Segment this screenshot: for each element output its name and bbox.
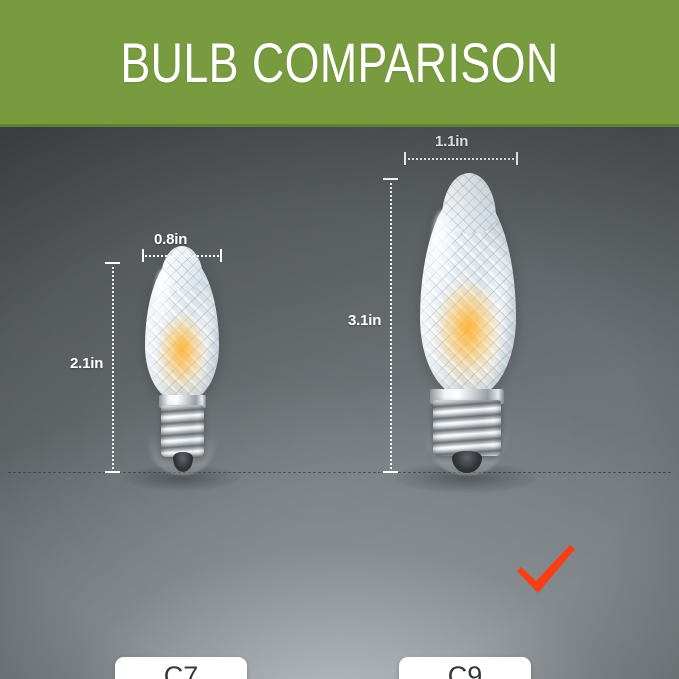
c9-base-tip (452, 451, 482, 473)
red-check-icon (512, 541, 580, 599)
c9-height-dimension-line (390, 178, 392, 473)
comparison-stage: 0.8in 2.1in 1.1in (0, 127, 679, 679)
c9-width-dimension-line (404, 158, 518, 160)
header-banner: BULB COMPARISON (0, 0, 679, 127)
c9-width-cap-right (516, 152, 518, 165)
c9-width-label: 1.1in (435, 133, 468, 150)
c7-glass-tip (161, 246, 203, 290)
c9-screw-base (433, 400, 501, 456)
c9-glass-tip (442, 173, 496, 233)
chip-c7: C7 (115, 657, 247, 679)
c7-screw-base (161, 405, 204, 457)
c7-width-label: 0.8in (154, 231, 187, 248)
c7-height-label: 2.1in (70, 355, 103, 372)
page-title: BULB COMPARISON (68, 0, 611, 124)
c7-base-tip (173, 452, 193, 472)
c9-height-cap-bottom (383, 471, 398, 473)
label-block-c9: C9 E17 BASE (355, 657, 575, 679)
c9-height-cap-top (383, 178, 398, 180)
c9-width-cap-left (404, 152, 406, 165)
c7-width-cap-left (142, 249, 144, 262)
label-block-c7: C7 E12 BASE (71, 657, 291, 679)
c7-height-cap-bottom (105, 471, 120, 473)
chip-c9: C9 (399, 657, 531, 679)
bulb-comparison-infographic: BULB COMPARISON 0.8in (0, 0, 679, 679)
c7-width-dimension-line (142, 255, 222, 257)
c7-height-dimension-line (112, 262, 114, 473)
c7-height-cap-top (105, 262, 120, 264)
c7-width-cap-right (220, 249, 222, 262)
bulb-group-c7: 0.8in 2.1in (118, 127, 248, 679)
c9-height-label: 3.1in (348, 312, 381, 329)
